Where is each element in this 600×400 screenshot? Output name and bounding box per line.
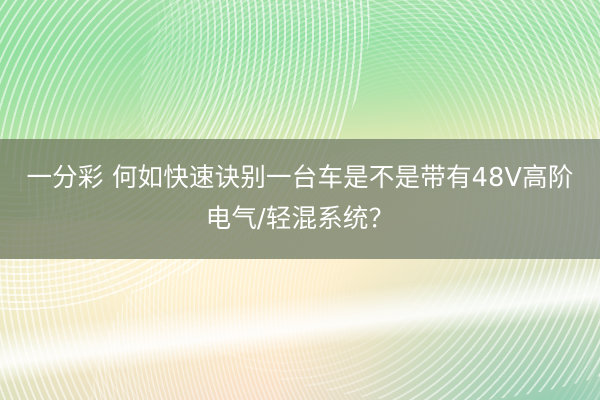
caption-overlay-band: 一分彩 何如快速诀别一台车是不是带有48V高阶电气/轻混系统？ xyxy=(0,139,600,259)
banner-caption: 一分彩 何如快速诀别一台车是不是带有48V高阶电气/轻混系统？ xyxy=(14,158,586,240)
promo-banner: 一分彩 何如快速诀别一台车是不是带有48V高阶电气/轻混系统？ xyxy=(0,0,600,400)
